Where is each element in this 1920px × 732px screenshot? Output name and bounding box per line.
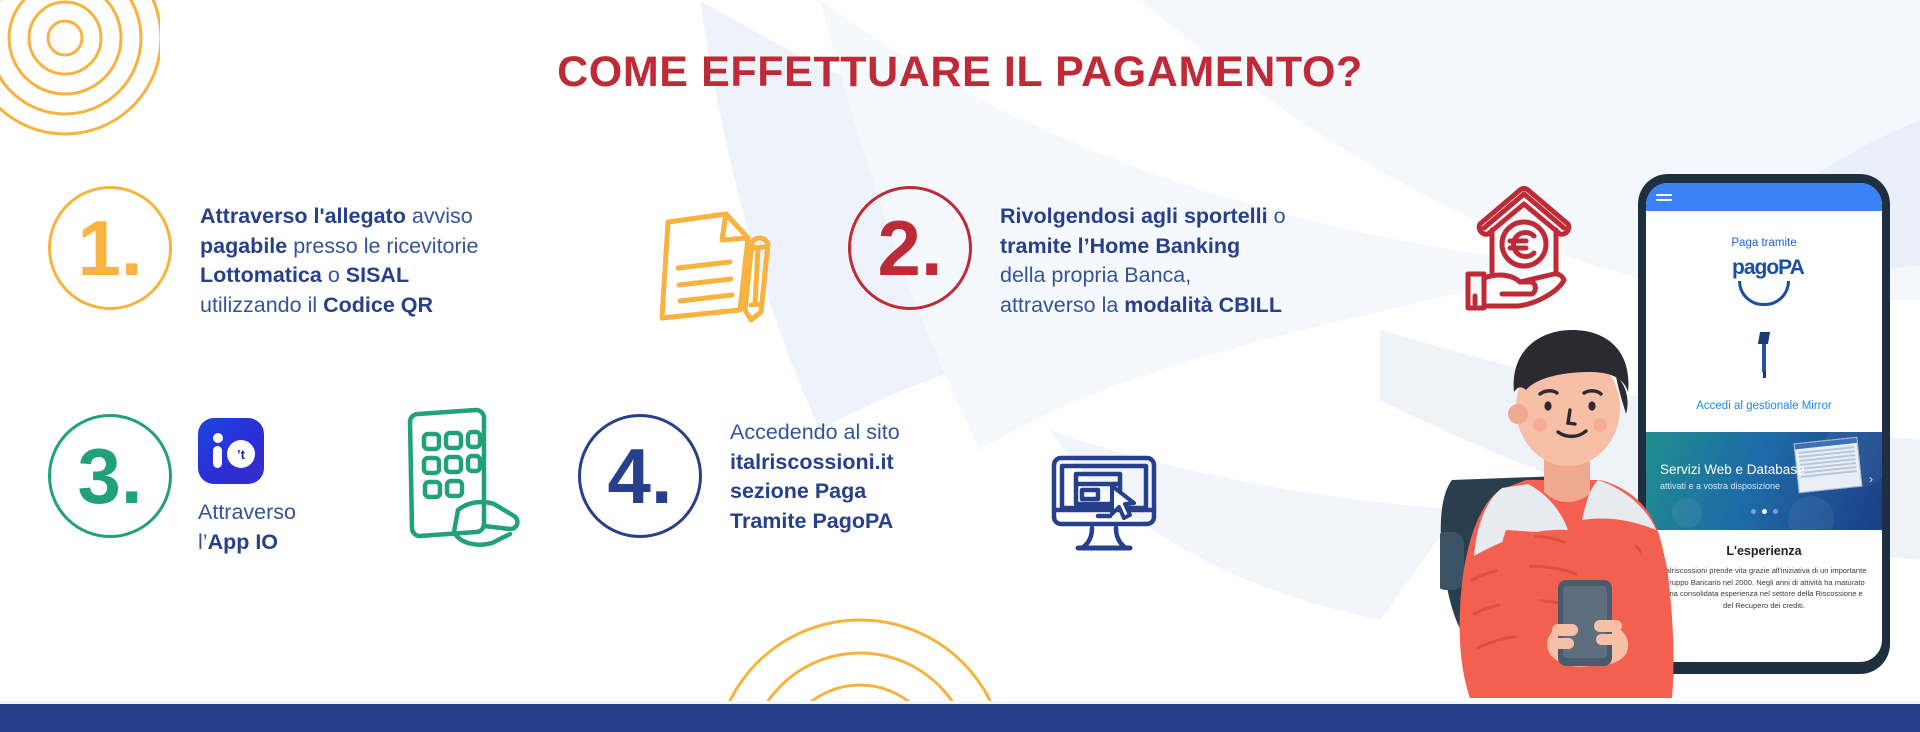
step-1-text: Attraverso l'allegato avviso pagabile pr…: [200, 186, 560, 320]
io-icon-stem: [213, 446, 222, 468]
step-2: 2. Rivolgendosi agli sportelli o tramite…: [848, 186, 1430, 320]
step-1: 1. Attraverso l'allegato avviso pagabile…: [48, 186, 560, 320]
paga-tramite-label: Paga tramite: [1646, 237, 1882, 249]
step-1-number: 1.: [77, 209, 142, 287]
hand-phone-keypad-icon: [398, 404, 523, 549]
phone-app-bar: [1646, 183, 1882, 211]
step-3-line-2: l’App IO: [198, 528, 388, 558]
step-1-line-2: pagabile presso le ricevitorie: [200, 232, 560, 262]
step-3: 3. ’t Attraverso l’App IO: [48, 414, 388, 557]
pagopa-logo-smile: [1738, 281, 1790, 306]
io-icon-mark: ’t: [237, 447, 245, 462]
person-illustration: [1440, 280, 1720, 700]
step-2-line-2: tramite l’Home Banking: [1000, 232, 1430, 262]
pagopa-logo: pagoPA: [1732, 256, 1796, 306]
step-1-line-4: utilizzando il Codice QR: [200, 291, 560, 321]
step-2-line-1: Rivolgendosi agli sportelli o: [1000, 202, 1430, 232]
io-icon-dot: [213, 433, 223, 443]
step-3-text: Attraverso l’App IO: [198, 498, 388, 557]
page-title: COME EFFETTUARE IL PAGAMENTO?: [0, 48, 1920, 97]
pen-icon: [1759, 332, 1769, 378]
document-pencil-icon: [648, 200, 778, 325]
step-4-line-3: sezione Paga: [730, 477, 1000, 507]
step-3-content: ’t Attraverso l’App IO: [198, 414, 388, 557]
step-2-number: 2.: [877, 209, 942, 287]
step-4-line-1: Accedendo al sito: [730, 418, 1000, 448]
io-app-icon[interactable]: ’t: [198, 418, 264, 484]
desktop-monitor-cursor-icon: [1048, 452, 1163, 557]
step-2-text: Rivolgendosi agli sportelli o tramite l’…: [1000, 186, 1430, 320]
step-1-number-circle: 1.: [48, 186, 172, 310]
step-4-number: 4.: [607, 437, 672, 515]
step-2-number-circle: 2.: [848, 186, 972, 310]
step-3-line-1: Attraverso: [198, 498, 388, 528]
step-4-line-4: Tramite PagoPA: [730, 507, 1000, 537]
infographic-banner: COME EFFETTUARE IL PAGAMENTO? 1. Attrave…: [0, 0, 1920, 732]
pagopa-logo-text: pagoPA: [1732, 256, 1804, 279]
step-1-line-3: Lottomatica o SISAL: [200, 261, 560, 291]
hamburger-menu-icon[interactable]: [1656, 191, 1672, 204]
step-4: 4. Accedendo al sito italriscossioni.it …: [578, 414, 1000, 538]
step-3-number-circle: 3.: [48, 414, 172, 538]
step-4-number-circle: 4.: [578, 414, 702, 538]
io-icon-circle: ’t: [227, 440, 255, 468]
step-3-number: 3.: [77, 437, 142, 515]
step-2-line-4: attraverso la modalità CBILL: [1000, 291, 1430, 321]
step-4-text: Accedendo al sito italriscossioni.it sez…: [730, 414, 1000, 536]
step-1-line-1: Attraverso l'allegato avviso: [200, 202, 560, 232]
carousel-next-arrow[interactable]: ›: [1869, 472, 1873, 486]
step-4-line-2: italriscossioni.it: [730, 448, 1000, 478]
step-2-line-3: della propria Banca,: [1000, 261, 1430, 291]
bottom-bar: [0, 704, 1920, 732]
